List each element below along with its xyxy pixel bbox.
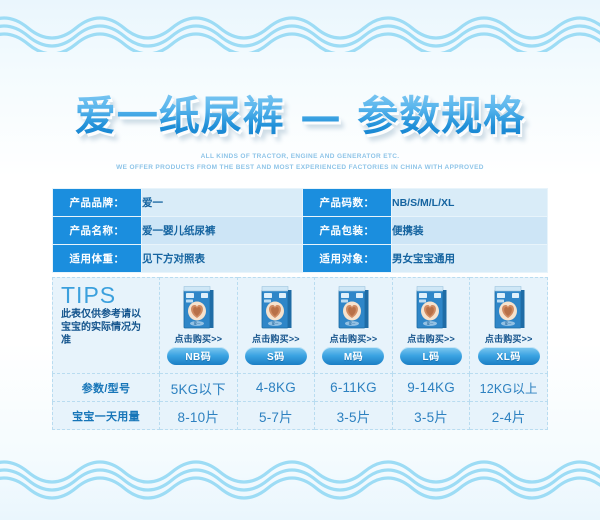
product-cell-xl[interactable]: 爱一 点击购买>> XL码 <box>470 278 548 374</box>
usage-l: 3-5片 <box>392 402 470 430</box>
buy-label[interactable]: 点击购买>> <box>252 332 300 345</box>
wave-decoration-bottom <box>0 456 600 502</box>
row-label-daily-usage: 宝宝一天用量 <box>53 402 160 430</box>
size-badge-nb[interactable]: NB码 <box>167 347 229 365</box>
spec-value-packaging: 便携装 <box>392 217 548 245</box>
diaper-package-icon: 爱一 <box>336 285 370 330</box>
size-badge-l[interactable]: L码 <box>400 347 462 365</box>
spec-value-audience: 男女宝宝通用 <box>392 245 548 273</box>
svg-text:爱一: 爱一 <box>504 321 511 326</box>
weight-s: 4-8KG <box>237 374 315 402</box>
spec-value-weight: 见下方对照表 <box>142 245 303 273</box>
buy-label[interactable]: 点击购买>> <box>407 332 455 345</box>
row-label-model: 参数/型号 <box>53 374 160 402</box>
product-cell-s[interactable]: 爱一 点击购买>> S码 <box>237 278 315 374</box>
size-badge-s[interactable]: S码 <box>245 347 307 365</box>
buy-label[interactable]: 点击购买>> <box>174 332 222 345</box>
page-title: 爱一纸尿裤 — 参数规格 <box>75 92 526 140</box>
wave-decoration-top <box>0 6 600 52</box>
table-row: 适用体重： 见下方对照表 适用对象： 男女宝宝通用 <box>53 245 548 273</box>
spec-key-brand: 产品品牌： <box>53 189 142 217</box>
title-block: 爱一纸尿裤 — 参数规格 ALL KINDS OF TRACTOR, ENGIN… <box>0 92 600 173</box>
spec-key-packaging: 产品包装： <box>303 217 392 245</box>
diaper-package-icon: 爱一 <box>414 285 448 330</box>
spec-key-name: 产品名称： <box>53 217 142 245</box>
tips-body: 此表仅供参考请以宝宝的实际情况为准 <box>61 308 147 347</box>
usage-xl: 2-4片 <box>470 402 548 430</box>
buy-label[interactable]: 点击购买>> <box>485 332 533 345</box>
size-badge-m[interactable]: M码 <box>322 347 384 365</box>
svg-text:爱一: 爱一 <box>194 321 201 326</box>
specification-table: 产品品牌： 爱一 产品码数： NB/S/M/L/XL 产品名称： 爱一婴儿纸尿裤… <box>52 188 548 273</box>
spec-value-sizes: NB/S/M/L/XL <box>392 189 548 217</box>
table-row: 产品品牌： 爱一 产品码数： NB/S/M/L/XL <box>53 189 548 217</box>
page-root: 爱一纸尿裤 — 参数规格 ALL KINDS OF TRACTOR, ENGIN… <box>0 0 600 520</box>
tips-heading: TIPS <box>61 282 159 308</box>
product-row: TIPS 此表仅供参考请以宝宝的实际情况为准 <box>53 278 548 374</box>
diaper-package-icon: 爱一 <box>259 285 293 330</box>
diaper-package-icon: 爱一 <box>492 285 526 330</box>
product-cell-l[interactable]: 爱一 点击购买>> L码 <box>392 278 470 374</box>
usage-s: 5-7片 <box>237 402 315 430</box>
weight-m: 6-11KG <box>315 374 393 402</box>
size-comparison-grid: TIPS 此表仅供参考请以宝宝的实际情况为准 <box>52 277 548 430</box>
product-cell-m[interactable]: 爱一 点击购买>> M码 <box>315 278 393 374</box>
spec-key-sizes: 产品码数： <box>303 189 392 217</box>
subtitle-line-2: WE OFFER PRODUCTS FROM THE BEST AND MOST… <box>0 163 600 173</box>
svg-text:爱一: 爱一 <box>272 321 279 326</box>
table-row: 产品名称： 爱一婴儿纸尿裤 产品包装： 便携装 <box>53 217 548 245</box>
diaper-package-icon: 爱一 <box>181 285 215 330</box>
product-cell-nb[interactable]: 爱一 点击购买>> NB码 <box>160 278 238 374</box>
subtitle-line-1: ALL KINDS OF TRACTOR, ENGINE AND GENERAT… <box>0 152 600 162</box>
usage-nb: 8-10片 <box>160 402 238 430</box>
spec-key-audience: 适用对象： <box>303 245 392 273</box>
size-badge-xl[interactable]: XL码 <box>478 347 540 365</box>
buy-label[interactable]: 点击购买>> <box>330 332 378 345</box>
spec-value-name: 爱一婴儿纸尿裤 <box>142 217 303 245</box>
weight-l: 9-14KG <box>392 374 470 402</box>
table-row-weight: 参数/型号 5KG以下 4-8KG 6-11KG 9-14KG 12KG以上 <box>53 374 548 402</box>
tips-cell: TIPS 此表仅供参考请以宝宝的实际情况为准 <box>53 278 160 374</box>
weight-nb: 5KG以下 <box>160 374 238 402</box>
usage-m: 3-5片 <box>315 402 393 430</box>
spec-key-weight: 适用体重： <box>53 245 142 273</box>
svg-text:爱一: 爱一 <box>427 321 434 326</box>
table-row-usage: 宝宝一天用量 8-10片 5-7片 3-5片 3-5片 2-4片 <box>53 402 548 430</box>
weight-xl: 12KG以上 <box>470 374 548 402</box>
spec-value-brand: 爱一 <box>142 189 303 217</box>
svg-text:爱一: 爱一 <box>349 321 356 326</box>
